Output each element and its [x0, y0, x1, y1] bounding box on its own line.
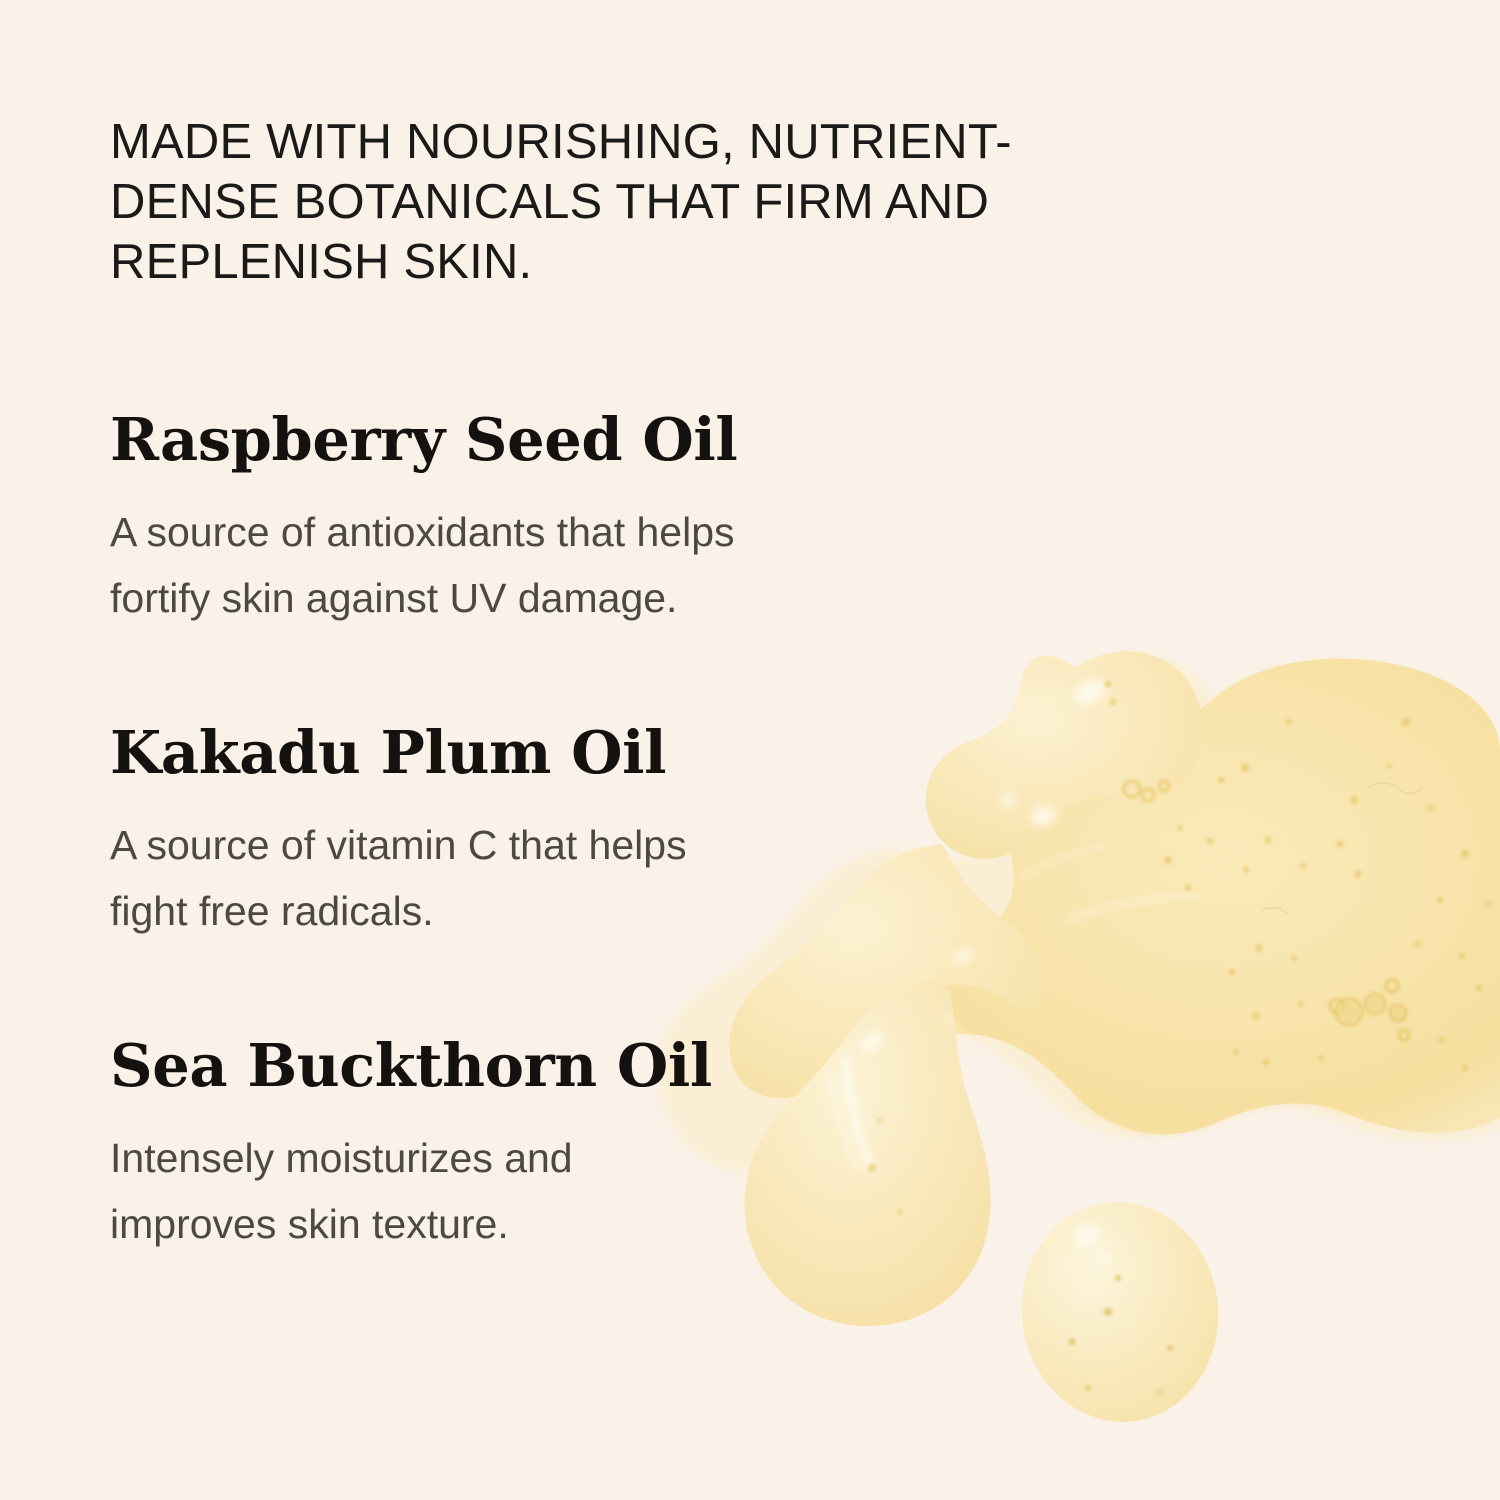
ingredient-name: Sea Buckthorn Oil	[110, 1036, 1120, 1095]
ingredient-name: Raspberry Seed Oil	[110, 410, 1120, 469]
ingredient-list: Raspberry Seed Oil A source of antioxida…	[110, 410, 1120, 1257]
intro-heading: MADE WITH NOURISHING, NUTRIENT- DENSE BO…	[110, 112, 1120, 292]
ingredient-item-sea-buckthorn-oil: Sea Buckthorn Oil Intensely moisturizes …	[110, 1036, 1120, 1257]
ingredient-description: A source of vitamin C that helps fight f…	[110, 812, 940, 944]
ingredient-description: A source of antioxidants that helps fort…	[110, 499, 940, 631]
ingredient-item-raspberry-seed-oil: Raspberry Seed Oil A source of antioxida…	[110, 410, 1120, 631]
oil-wisps	[1262, 783, 1422, 914]
ingredient-name: Kakadu Plum Oil	[110, 723, 1120, 782]
product-ingredients-panel: MADE WITH NOURISHING, NUTRIENT- DENSE BO…	[0, 0, 1500, 1500]
ingredient-item-kakadu-plum-oil: Kakadu Plum Oil A source of vitamin C th…	[110, 723, 1120, 944]
ingredient-description: Intensely moisturizes and improves skin …	[110, 1125, 940, 1257]
ingredient-copy: MADE WITH NOURISHING, NUTRIENT- DENSE BO…	[110, 112, 1120, 1257]
